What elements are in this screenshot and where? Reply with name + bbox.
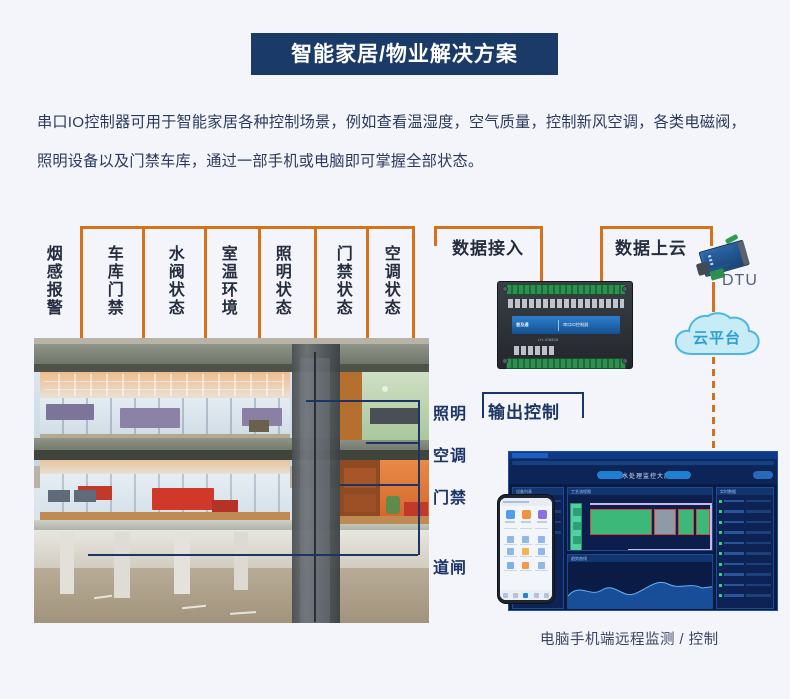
device-brand-name: 普及通 (516, 322, 558, 328)
page-title-banner: 智能家居/物业解决方案 (251, 33, 558, 75)
cloud-platform-label: 云平台 (672, 310, 762, 358)
pipe-mid (628, 549, 712, 550)
terminal-row-upper (508, 299, 624, 308)
dashboard-right-column: 实时数据 (716, 487, 774, 609)
card-icon-2 (522, 510, 531, 519)
bracket-top-4 (258, 226, 316, 229)
dashboard-title: 污水处理监控大屏 (615, 471, 671, 480)
browser-titlebar (509, 452, 777, 459)
list-item[interactable] (719, 497, 771, 506)
label-data-access: 数据接入 (452, 234, 524, 259)
bracket-line-5 (314, 226, 317, 354)
input-label-smoke-alarm: 烟感报警 (43, 245, 60, 317)
phone-grid-item[interactable] (520, 548, 533, 557)
label-divider (558, 320, 559, 331)
output-section-header: 输出控制 (488, 398, 560, 423)
pipe-right (710, 503, 712, 549)
data-cloud-bracket-top (600, 226, 712, 229)
output-line-barrier (88, 554, 418, 556)
output-bracket-spine (418, 400, 420, 555)
bracket-top-5 (314, 226, 368, 229)
dashboard-center-column: 工艺流程图 (567, 487, 713, 609)
phone-grid-item[interactable] (535, 548, 548, 557)
output-header-bracket-left (482, 392, 484, 418)
nav-item-devices[interactable] (513, 593, 518, 598)
io-controller-device[interactable]: 普及通 串口IO控制器 LH-IO8808 (497, 281, 633, 369)
dashboard-pill-left[interactable] (597, 471, 623, 479)
input-label-room-temp: 室温环境 (218, 245, 235, 317)
phone-grid-item[interactable] (504, 562, 517, 571)
output-label-barrier: 道闸 (433, 554, 467, 578)
input-label-lighting-status: 照明状态 (272, 245, 289, 317)
phone-grid-item[interactable] (520, 562, 533, 571)
intro-paragraph: 串口IO控制器可用于智能家居各种控制场景，例如查看温湿度，空气质量，控制新风空调… (37, 103, 759, 181)
mobile-app-screenshot[interactable] (497, 494, 555, 604)
list-item[interactable] (719, 560, 771, 569)
phone-card[interactable] (536, 510, 548, 523)
list-item[interactable] (719, 528, 771, 537)
dtu-to-cloud-connector (712, 282, 715, 312)
nav-item-profile[interactable] (544, 593, 549, 598)
terminal-strip-bottom (506, 358, 626, 369)
trend-chart (568, 562, 712, 608)
data-access-bracket-left (434, 226, 437, 246)
device-model-name: 串口IO控制器 (563, 322, 588, 328)
input-label-garage-access: 车库门禁 (104, 245, 121, 317)
dashboard-pill-right[interactable] (665, 471, 691, 479)
terminal-strip-top (506, 284, 626, 295)
nav-item-alarms[interactable] (534, 593, 539, 598)
data-access-bracket-right (540, 226, 543, 284)
card-icon-3 (538, 510, 547, 519)
browser-address-bar[interactable] (512, 461, 774, 465)
screw-bottom-right (622, 358, 628, 364)
phone-grid-item[interactable] (520, 536, 533, 545)
output-header-bracket-top (482, 392, 584, 394)
output-label-hvac: 空调 (433, 442, 467, 466)
list-item[interactable] (719, 581, 771, 590)
output-label-access: 门禁 (433, 484, 467, 508)
list-item[interactable] (719, 518, 771, 527)
screw-top-right (622, 286, 628, 292)
device-brand-label: 普及通 串口IO控制器 (512, 316, 620, 334)
terminal-row-lower (514, 346, 554, 355)
phone-function-grid-1 (500, 535, 552, 558)
cloud-to-monitor-connector (712, 357, 715, 453)
phone-app-header (500, 498, 552, 506)
pipe-down (628, 549, 630, 550)
phone-grid-item[interactable] (504, 548, 517, 557)
bracket-line-6 (366, 226, 369, 356)
phone-stat (535, 528, 548, 529)
dtu-label: DTU (722, 272, 758, 290)
list-item[interactable] (719, 549, 771, 558)
output-label-lighting: 照明 (433, 400, 467, 424)
tank-1 (590, 509, 652, 535)
device-sub-text: LH-IO8808 (538, 338, 558, 342)
bracket-line-3 (204, 226, 207, 342)
control-button-strip[interactable] (570, 503, 582, 550)
realtime-data-panel[interactable]: 实时数据 (716, 487, 774, 609)
phone-grid-item[interactable] (535, 536, 548, 545)
page-root: 智能家居/物业解决方案 串口IO控制器可用于智能家居各种控制场景，例如查看温湿度… (0, 0, 790, 699)
trend-chart-panel[interactable]: 趋势曲线 (567, 554, 713, 609)
list-item[interactable] (719, 570, 771, 579)
phone-bottom-nav (500, 590, 552, 600)
process-diagram (568, 495, 712, 550)
trend-chart-title: 趋势曲线 (568, 555, 712, 562)
screw-bottom-left (502, 358, 508, 364)
page-title: 智能家居/物业解决方案 (291, 44, 518, 65)
bracket-top-1 (80, 226, 144, 229)
output-line-hvac (366, 442, 418, 444)
bracket-top-6 (366, 226, 412, 229)
list-item[interactable] (719, 539, 771, 548)
building-cutaway-image (34, 338, 429, 623)
data-cloud-bracket-left (600, 226, 603, 284)
tank-3 (678, 509, 694, 535)
list-item[interactable] (719, 591, 771, 600)
input-label-access-status: 门禁状态 (333, 245, 350, 317)
card-icon-1 (506, 510, 515, 519)
nav-item-home[interactable] (503, 593, 508, 598)
data-access-bracket-top (434, 226, 542, 229)
input-label-valve-status: 水阀状态 (165, 245, 182, 317)
pipe-top (590, 503, 710, 505)
phone-stat (520, 528, 533, 529)
screw-top-left (502, 286, 508, 292)
phone-stat (504, 528, 517, 529)
dashboard-header: 污水处理监控大屏 (509, 466, 777, 484)
browser-tab[interactable] (512, 453, 548, 458)
phone-summary-cards (500, 506, 552, 527)
bracket-top-3 (204, 226, 260, 229)
browser-toolbar (509, 459, 777, 466)
bottom-caption: 电脑手机端远程监测 / 控制 (540, 628, 719, 649)
phone-grid-item[interactable] (535, 562, 548, 571)
phone-function-grid-2 (500, 561, 552, 572)
label-data-to-cloud: 数据上云 (615, 234, 687, 259)
trend-chart-svg (568, 568, 712, 608)
bracket-top-2 (142, 226, 206, 229)
nav-item-control[interactable] (523, 593, 528, 598)
list-item[interactable] (719, 507, 771, 516)
phone-card[interactable] (520, 510, 532, 523)
process-diagram-panel[interactable]: 工艺流程图 (567, 487, 713, 551)
tank-2 (654, 509, 676, 535)
tank-4 (696, 509, 710, 535)
realtime-data-title: 实时数据 (717, 488, 773, 495)
dashboard-settings-button[interactable] (753, 471, 773, 479)
phone-header-title (503, 501, 529, 503)
phone-screen (500, 498, 552, 600)
output-line-lighting (306, 400, 418, 402)
phone-card[interactable] (504, 510, 516, 523)
process-diagram-title: 工艺流程图 (568, 488, 712, 495)
input-label-hvac-status: 空调状态 (381, 245, 398, 317)
phone-grid-item[interactable] (504, 536, 517, 545)
output-header-bracket-right (582, 392, 584, 418)
output-line-access (340, 484, 418, 486)
